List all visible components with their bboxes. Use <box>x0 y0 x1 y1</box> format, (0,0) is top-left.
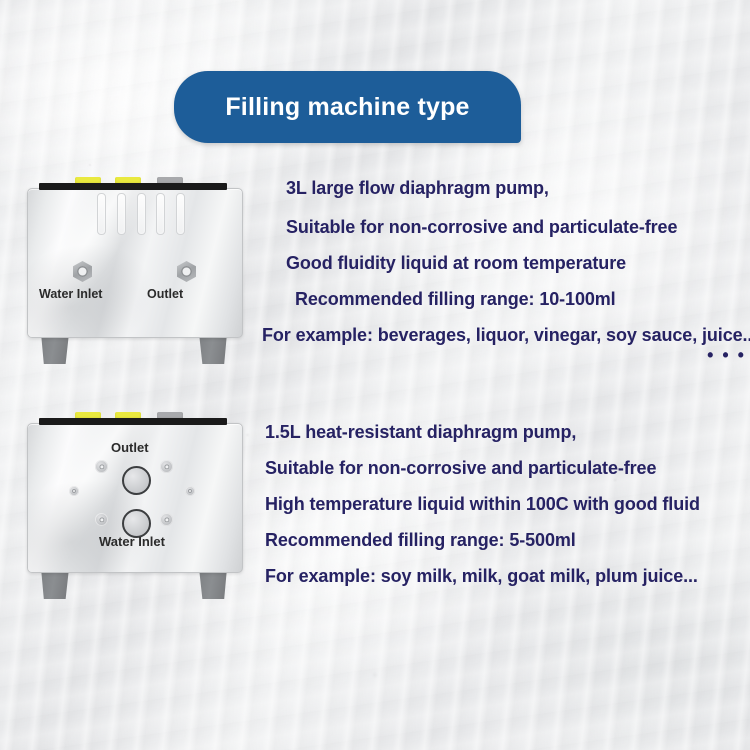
bolt <box>160 460 173 473</box>
desc-line: 3L large flow diaphragm pump, <box>286 179 750 197</box>
desc-line: Good fluidity liquid at room temperature <box>286 254 750 272</box>
overflow-ellipsis: • • • <box>707 345 746 366</box>
desc-line: Suitable for non-corrosive and particula… <box>265 459 750 477</box>
water-inlet-fitting-icon <box>73 261 92 282</box>
port-hole <box>181 266 192 277</box>
desc-line: Suitable for non-corrosive and particula… <box>286 218 750 236</box>
machine1-water-inlet-label: Water Inlet <box>39 287 102 301</box>
machine2-outlet-label: Outlet <box>111 440 149 455</box>
vent-slots <box>97 193 185 233</box>
top-rail <box>39 183 227 190</box>
vent-slot <box>137 193 146 235</box>
bolt <box>160 513 173 526</box>
bolt <box>95 460 108 473</box>
title-banner: Filling machine type <box>174 71 521 143</box>
vent-slot <box>117 193 126 235</box>
machine-illustration-2: Outlet Water Inlet <box>27 410 255 600</box>
bolt <box>69 486 79 496</box>
outlet-fitting-icon <box>177 261 196 282</box>
desc-line: For example: beverages, liquor, vinegar,… <box>262 326 750 344</box>
desc-line: For example: soy milk, milk, goat milk, … <box>265 567 750 585</box>
product-2-description: 1.5L heat-resistant diaphragm pump, Suit… <box>265 423 750 585</box>
product-1-description: 3L large flow diaphragm pump, Suitable f… <box>262 179 750 344</box>
vent-slot <box>97 193 106 235</box>
outlet-port-icon <box>122 466 151 495</box>
desc-line: Recommended filling range: 5-500ml <box>265 531 750 549</box>
desc-line: Recommended filling range: 10-100ml <box>295 290 750 308</box>
top-rail <box>39 418 227 425</box>
vent-slot <box>156 193 165 235</box>
infographic-canvas: Filling machine type Water Inlet Outlet <box>0 0 750 750</box>
machine1-outlet-label: Outlet <box>147 287 183 301</box>
machine-illustration-1: Water Inlet Outlet <box>27 175 255 365</box>
desc-line: 1.5L heat-resistant diaphragm pump, <box>265 423 750 441</box>
vent-slot <box>176 193 185 235</box>
bolt <box>185 486 195 496</box>
desc-line: High temperature liquid within 100C with… <box>265 495 750 513</box>
port-hole <box>77 266 88 277</box>
machine2-water-inlet-label: Water Inlet <box>99 534 165 549</box>
page-title: Filling machine type <box>225 93 469 122</box>
bolt <box>95 513 108 526</box>
